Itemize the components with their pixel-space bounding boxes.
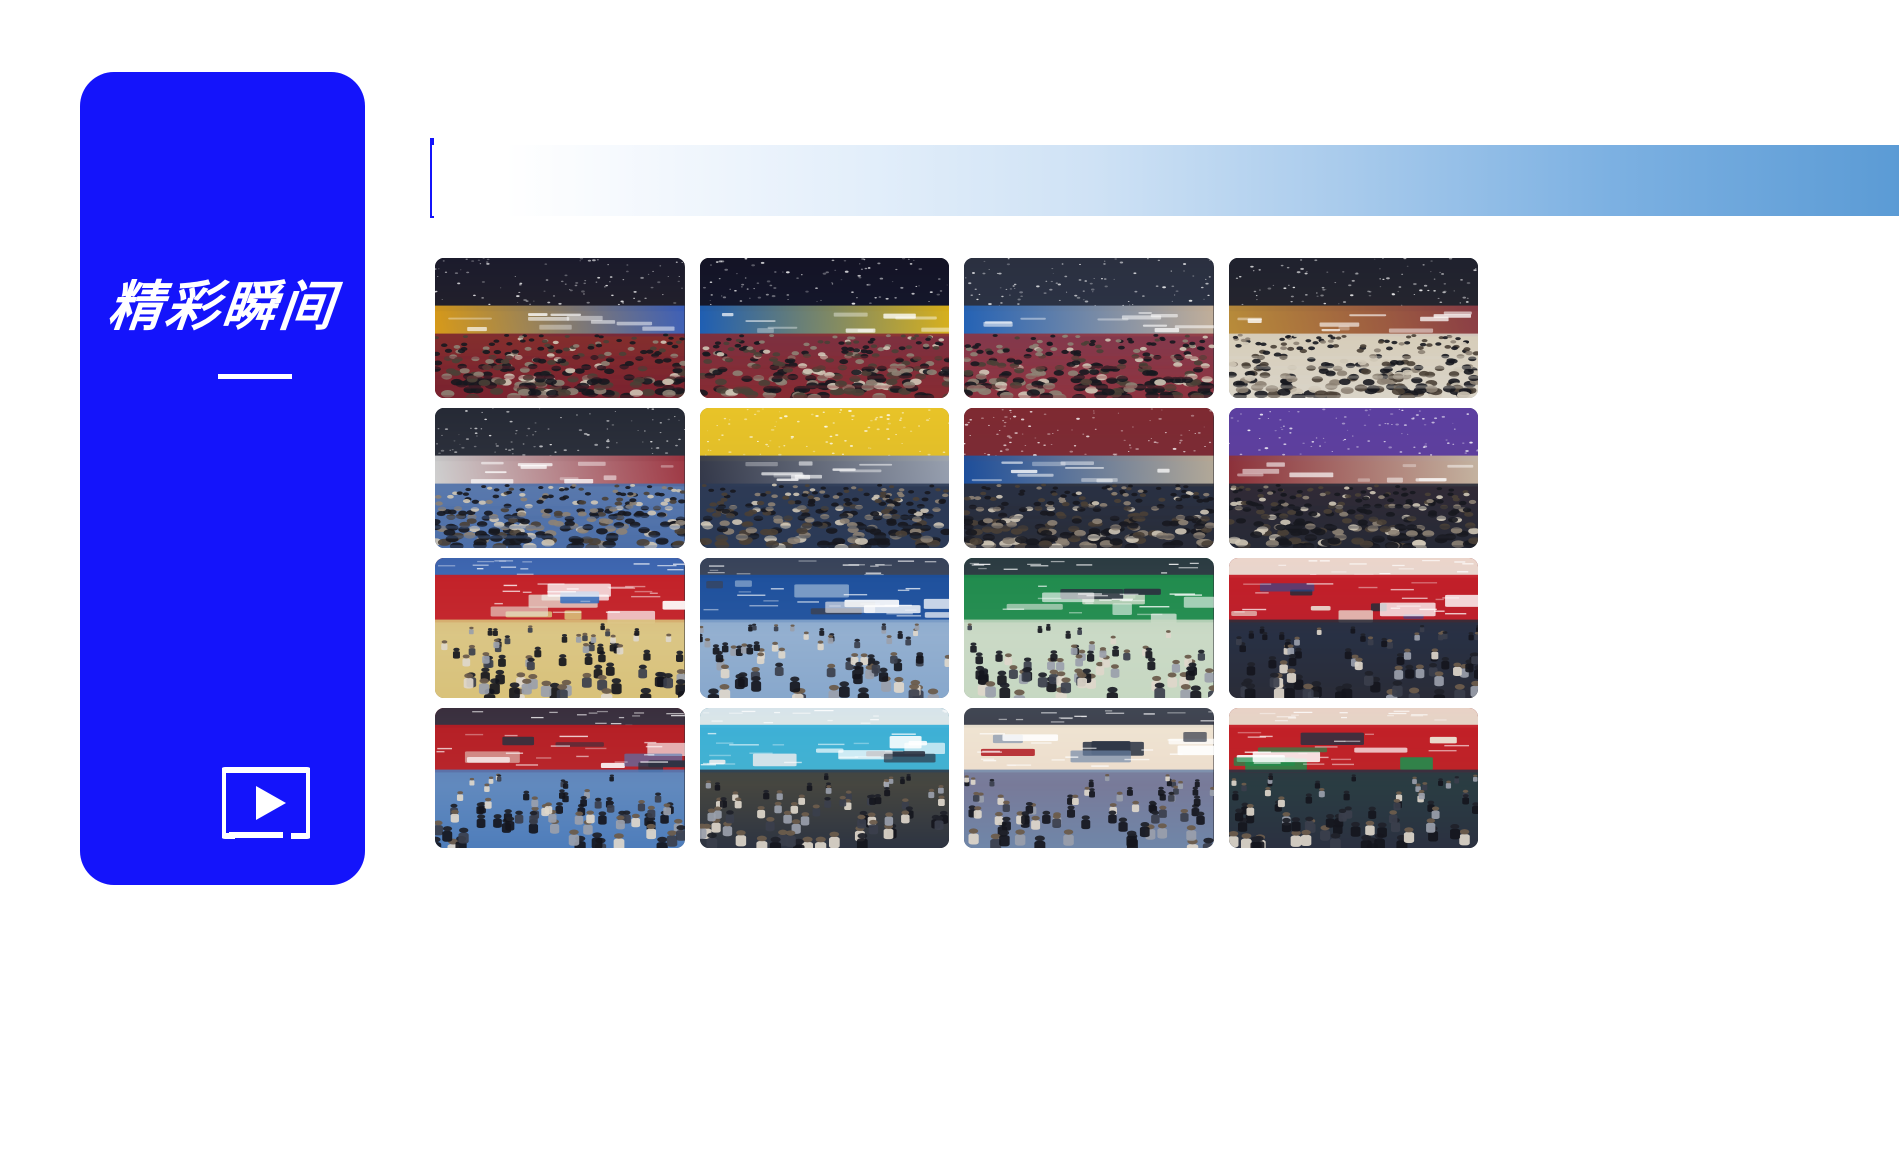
gallery-photo[interactable] [1229,708,1479,848]
video-play-icon[interactable] [222,766,310,840]
gallery-photo[interactable] [435,558,685,698]
sidebar-panel: 精彩瞬间 [80,72,365,885]
gallery-photo[interactable] [435,708,685,848]
gallery-photo[interactable] [964,408,1214,548]
slide-root: 精彩瞬间 [0,0,1899,1169]
gallery-photo[interactable] [700,408,950,548]
page-title: 精彩瞬间 [80,280,365,334]
title-divider [218,374,292,379]
gallery-photo[interactable] [1229,258,1479,398]
gallery-photo[interactable] [700,258,950,398]
gallery-photo[interactable] [964,558,1214,698]
gallery-photo[interactable] [964,258,1214,398]
gallery-photo[interactable] [1229,558,1479,698]
gallery-photo[interactable] [964,708,1214,848]
photo-gallery-grid [435,258,1478,848]
gallery-photo[interactable] [435,408,685,548]
gallery-photo[interactable] [700,708,950,848]
gallery-photo[interactable] [700,558,950,698]
gallery-photo[interactable] [1229,408,1479,548]
header-gradient-bar [432,145,1899,216]
gallery-photo[interactable] [435,258,685,398]
